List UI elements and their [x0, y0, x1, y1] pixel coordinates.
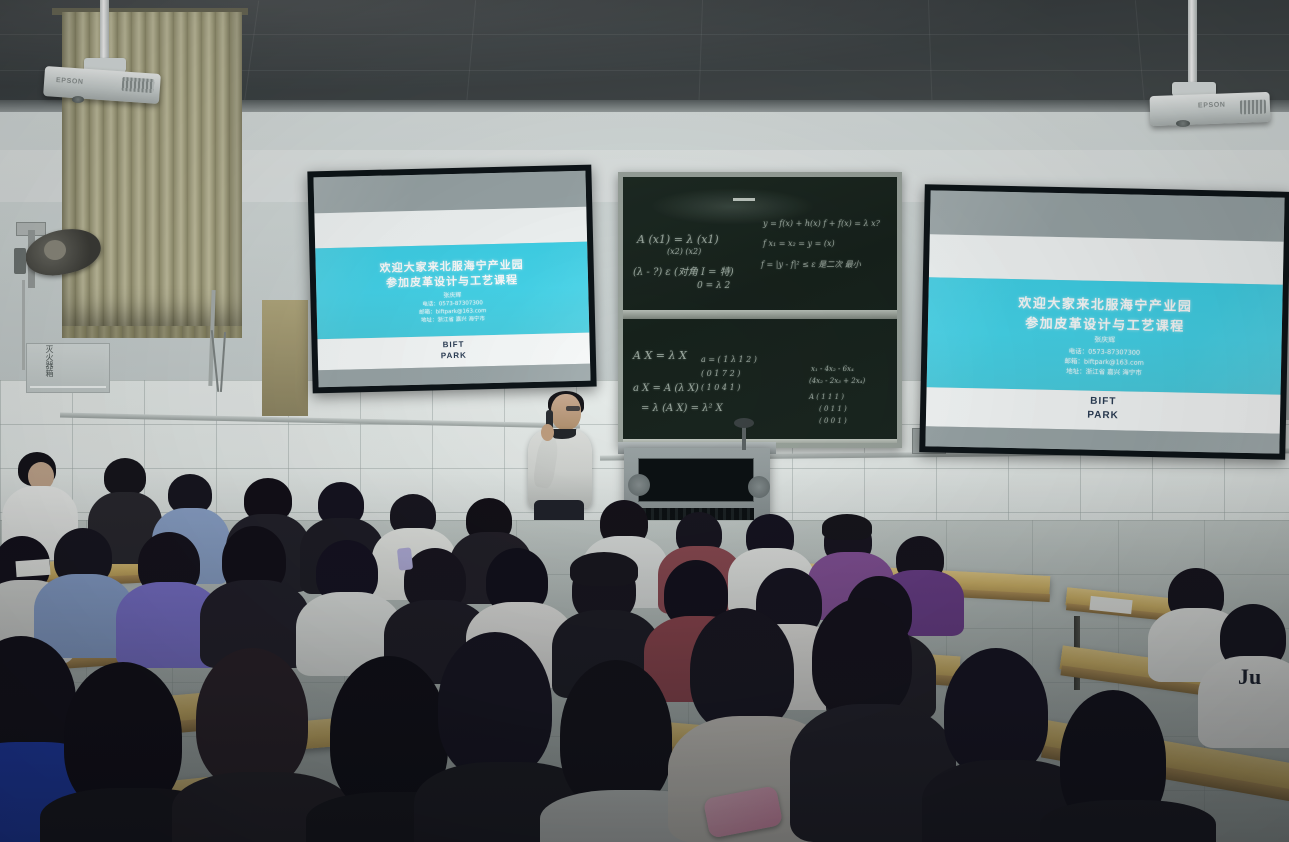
student-head — [104, 458, 146, 496]
blackboard-line: A (x1) = λ (x1) — [637, 233, 719, 246]
presenter-head — [551, 394, 581, 430]
side-doorway — [262, 300, 308, 416]
fan-switch[interactable] — [14, 248, 26, 274]
left-projector-lens-icon — [72, 96, 84, 103]
blackboard-line: x₁ - 4x₂ - 6x₄ — [811, 365, 854, 373]
blackboard-line: y = f(x) + h(x) f + f(x) = λ x? — [763, 219, 880, 228]
presenter-glasses-icon — [566, 406, 580, 411]
lectern-speaker-right — [748, 476, 770, 498]
lectern-speaker-left — [628, 474, 650, 496]
student-head — [690, 608, 794, 732]
lectern-monitor[interactable] — [638, 458, 754, 502]
blackboard-line: a X = A (λ X) — [633, 383, 699, 394]
student-head — [812, 598, 912, 718]
right-projector-pole — [1188, 0, 1197, 84]
blackboard-line: ( 0 1 1 ) — [819, 405, 847, 413]
fan-cord — [22, 280, 25, 370]
right-projector-brand-label: EPSON — [1198, 102, 1226, 110]
blackboard-line: a = ( 1 λ 1 2 ) — [701, 355, 757, 364]
blackboard-line: ( 0 1 7 2 ) — [701, 369, 740, 378]
blackboard-line: A ( 1 1 1 ) — [809, 393, 844, 401]
blackboard-line: f = |y - f|² ≤ ε 是二次 最小 — [761, 259, 861, 270]
blackboard-divider — [623, 310, 897, 319]
right-projector-lens-icon — [1176, 120, 1190, 127]
lecture-hall-photo: 灭火器箱 EPSON EPSON 欢迎大家来北服海宁产业园 参加皮革设计与工艺课… — [0, 0, 1289, 842]
student-torso — [1040, 800, 1216, 842]
student-cap-icon — [570, 552, 638, 586]
left-projector-vent — [122, 77, 155, 93]
blackboard-line: f x₁ = x₂ = y = (x) — [763, 239, 835, 248]
chalk-stick[interactable] — [733, 198, 755, 201]
right-projector-vent — [1240, 100, 1266, 115]
wall-plaque-text: 灭火器箱 — [38, 345, 54, 391]
blackboard-line: ( 1 0 4 1 ) — [701, 383, 740, 392]
student-shirt-text: Ju — [1238, 664, 1261, 690]
blackboard-line: A X = λ X — [633, 349, 687, 362]
student-head — [438, 632, 552, 778]
presenter-hand — [541, 424, 554, 441]
blackboard[interactable]: A (x1) = λ (x1) (x2) (x2) (λ - ?) ε (对角 … — [618, 172, 902, 448]
fan-hub — [44, 240, 66, 260]
left-projector-pole — [100, 0, 109, 62]
left-projection-screen[interactable]: 欢迎大家来北服海宁产业园 参加皮革设计与工艺课程 张庆辉 电话：0573-873… — [307, 165, 596, 394]
student-head — [560, 660, 672, 810]
right-projection-screen[interactable]: 欢迎大家来北服海宁产业园 参加皮革设计与工艺课程 张庆辉 电话：0573-873… — [919, 184, 1289, 460]
wall-plaque-underline — [30, 386, 106, 388]
student-cap-icon — [822, 514, 872, 540]
desk-item-paper[interactable] — [15, 559, 50, 577]
left-screen-glare — [313, 171, 590, 388]
blackboard-line: = λ (A X) = λ² X — [641, 403, 723, 414]
student-head — [944, 648, 1048, 776]
student-head — [196, 648, 308, 788]
blackboard-line: (λ - ?) ε (对角 I = 特) — [633, 263, 734, 278]
blackboard-line: ( 0 0 1 ) — [819, 417, 847, 425]
desk-item-phone[interactable] — [397, 547, 413, 570]
blackboard-line: (x2) (x2) — [667, 247, 701, 256]
right-screen-glare — [925, 190, 1284, 453]
curtain-hem — [62, 326, 242, 338]
blackboard-line: (4x₂ - 2x₃ + 2x₄) — [809, 377, 865, 385]
blackboard-line: 0 = λ 2 — [697, 281, 730, 291]
microphone-head-icon[interactable] — [734, 418, 754, 428]
